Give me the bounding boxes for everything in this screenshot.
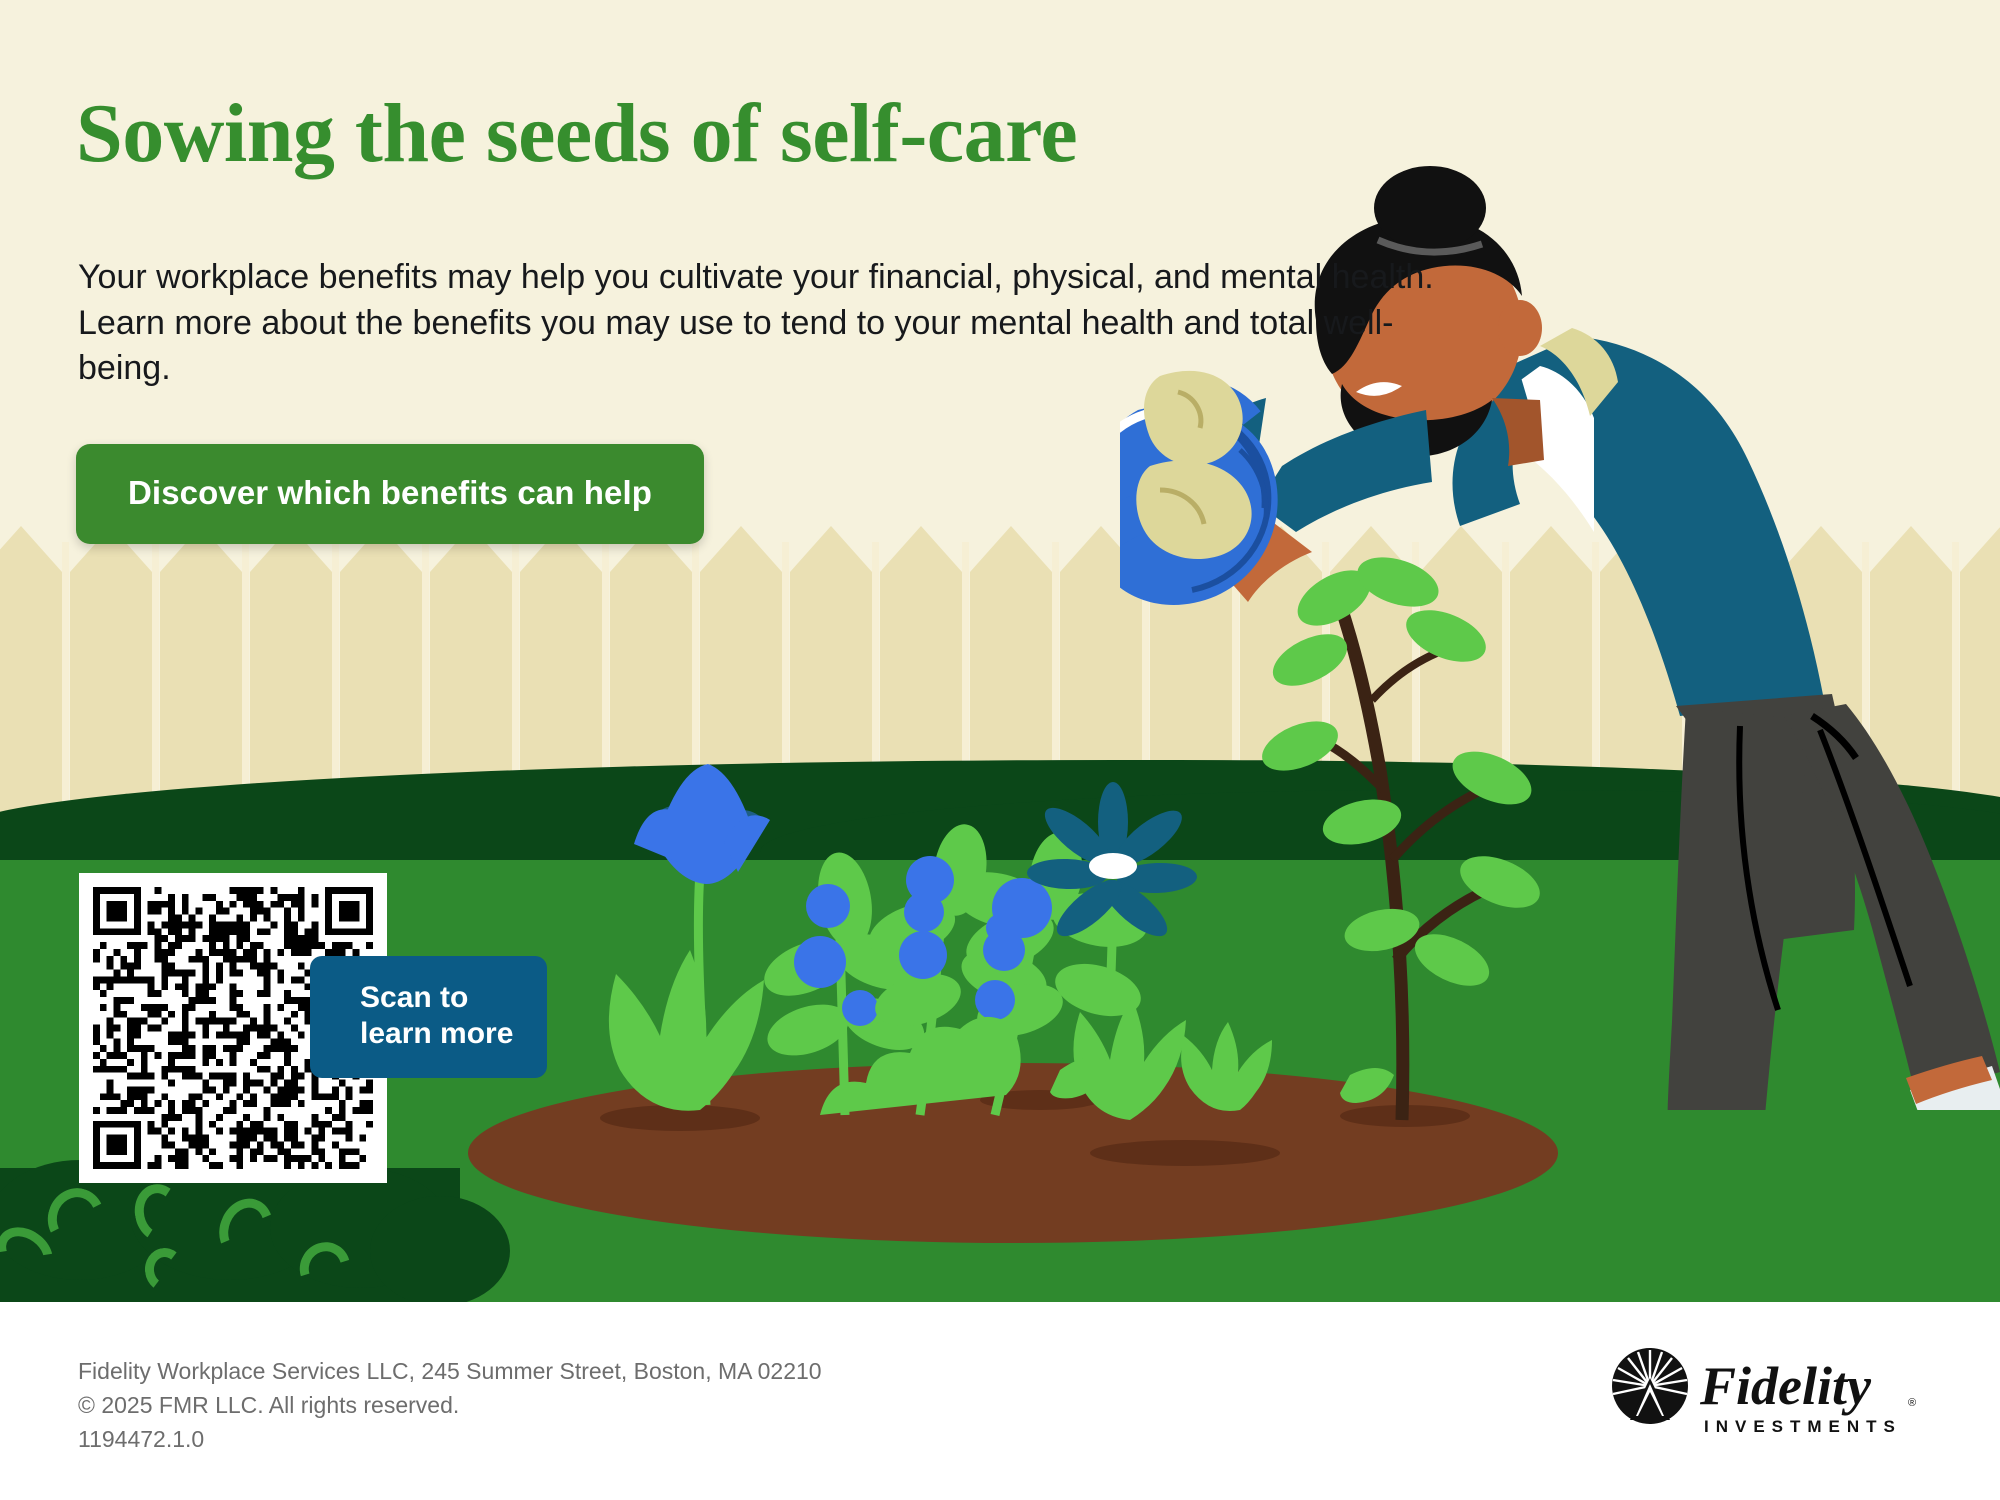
tulip-flower bbox=[634, 764, 770, 884]
scan-badge-line-2: learn more bbox=[360, 1016, 513, 1052]
berry bbox=[906, 856, 954, 904]
fidelity-wordmark: Fidelity bbox=[1699, 1356, 1872, 1416]
page-title: Sowing the seeds of self-care bbox=[76, 92, 1077, 176]
berry bbox=[806, 884, 850, 928]
legal-line-3: 1194472.1.0 bbox=[78, 1422, 822, 1456]
illustration-scene: Scan to learn more Sowing the seeds of s… bbox=[0, 0, 2000, 1302]
poster-canvas: Scan to learn more Sowing the seeds of s… bbox=[0, 0, 2000, 1500]
shrub-lobe bbox=[370, 1196, 510, 1302]
berry bbox=[983, 929, 1025, 971]
fidelity-investments-logo: Fidelity ® INVESTMENTS bbox=[1608, 1348, 1938, 1443]
berry bbox=[842, 990, 878, 1026]
jacket-sleeve-front bbox=[1258, 410, 1432, 532]
fidelity-pyramid-icon bbox=[1612, 1348, 1688, 1424]
discover-benefits-button[interactable]: Discover which benefits can help bbox=[76, 444, 704, 544]
scan-badge-line-1: Scan to bbox=[360, 980, 513, 1016]
berry bbox=[794, 936, 846, 988]
legal-line-2: © 2025 FMR LLC. All rights reserved. bbox=[78, 1388, 822, 1422]
leaf-clump-left bbox=[609, 950, 764, 1111]
scan-to-learn-more-badge[interactable]: Scan to learn more bbox=[310, 956, 547, 1078]
legal-line-1: Fidelity Workplace Services LLC, 245 Sum… bbox=[78, 1354, 822, 1388]
footer: Fidelity Workplace Services LLC, 245 Sum… bbox=[0, 1302, 2000, 1500]
berry bbox=[975, 980, 1015, 1020]
berry bbox=[899, 931, 947, 979]
registered-mark: ® bbox=[1908, 1397, 1916, 1409]
legal-text: Fidelity Workplace Services LLC, 245 Sum… bbox=[78, 1354, 822, 1456]
ear bbox=[1498, 300, 1542, 356]
hair-bun bbox=[1374, 166, 1486, 250]
page-subcopy: Your workplace benefits may help you cul… bbox=[78, 255, 1468, 392]
investments-subtext: INVESTMENTS bbox=[1704, 1417, 1902, 1436]
